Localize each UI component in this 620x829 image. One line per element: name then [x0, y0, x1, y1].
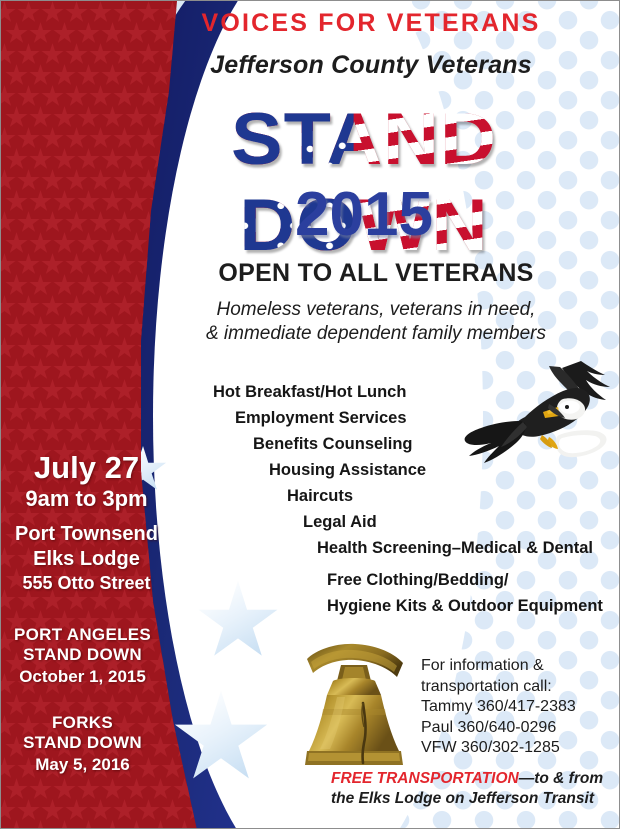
main-event-time: 9am to 3pm: [9, 486, 164, 512]
red-panel-star: [53, 316, 76, 339]
service-item: Hygiene Kits & Outdoor Equipment: [191, 593, 606, 619]
red-panel-star: [53, 190, 76, 213]
red-panel-star: [149, 778, 172, 801]
red-panel-star: [101, 64, 124, 87]
red-panel-star: [29, 148, 52, 171]
red-panel-star: [29, 400, 52, 423]
red-panel-star: [29, 106, 52, 129]
red-panel-star: [101, 820, 124, 829]
main-event-date: July 27: [9, 450, 164, 486]
red-panel-star: [41, 421, 64, 444]
red-panel-star: [0, 421, 16, 444]
other-event-1-date: October 1, 2015: [5, 667, 160, 687]
red-panel-star: [53, 232, 76, 255]
red-panel-star: [29, 274, 52, 297]
red-panel-star: [5, 400, 28, 423]
red-panel-star: [161, 799, 184, 822]
other-event-2-name: FORKS STAND DOWN: [5, 713, 160, 753]
red-panel-star: [5, 64, 28, 87]
red-panel-star: [53, 148, 76, 171]
red-panel-star: [29, 64, 52, 87]
red-panel-star: [5, 778, 28, 801]
main-event-venue: Port Townsend Elks Lodge: [9, 522, 164, 572]
service-item: Health Screening–Medical & Dental: [191, 535, 606, 561]
red-panel-star: [101, 22, 124, 45]
red-panel-star: [65, 211, 88, 234]
liberty-bell-icon: [293, 639, 415, 771]
red-panel-star: [77, 22, 100, 45]
stand-down-title: STAND DOWN: [119, 97, 609, 183]
red-panel-star: [77, 316, 100, 339]
red-panel-star: [29, 778, 52, 801]
red-panel-star: [41, 211, 64, 234]
red-panel-star: [77, 64, 100, 87]
red-panel-star: [89, 1, 112, 24]
red-panel-star: [113, 337, 136, 360]
red-panel-star: [65, 253, 88, 276]
red-panel-star: [101, 316, 124, 339]
red-panel-star: [89, 43, 112, 66]
red-panel-star: [125, 64, 148, 87]
red-panel-star: [53, 64, 76, 87]
red-panel-star: [89, 799, 112, 822]
red-panel-star: [41, 253, 64, 276]
poster: VOICES FOR VETERANS Jefferson County Vet…: [0, 0, 620, 829]
red-panel-star: [17, 169, 40, 192]
transportation-highlight: FREE TRANSPORTATION: [331, 770, 519, 787]
transportation-rest: —to & from: [519, 770, 603, 787]
red-panel-star: [125, 274, 148, 297]
red-panel-star: [65, 799, 88, 822]
red-panel-star: [65, 379, 88, 402]
red-panel-star: [29, 22, 52, 45]
red-panel-star: [113, 1, 136, 24]
red-panel-star: [101, 274, 124, 297]
red-panel-star: [161, 757, 184, 780]
red-panel-star: [65, 295, 88, 318]
contact-phone-tammy: Tammy 360/417-2383: [421, 697, 620, 718]
red-panel-star: [41, 43, 64, 66]
red-panel-star: [77, 358, 100, 381]
red-panel-star: [17, 295, 40, 318]
red-panel-star: [101, 778, 124, 801]
red-panel-star: [53, 778, 76, 801]
red-panel-star: [0, 85, 16, 108]
other-event-2-line-1: FORKS: [5, 713, 160, 733]
other-event-1-line-1: PORT ANGELES: [5, 625, 160, 645]
red-panel-star: [149, 820, 172, 829]
other-event-1-name: PORT ANGELES STAND DOWN: [5, 625, 160, 665]
venue-line-1: Port Townsend: [9, 522, 164, 547]
red-panel-star: [0, 295, 16, 318]
red-panel-star: [5, 316, 28, 339]
red-panel-star: [77, 820, 100, 829]
contact-line-2: transportation call:: [421, 677, 620, 698]
transportation-notice: FREE TRANSPORTATION—to & from the Elks L…: [331, 769, 609, 809]
red-panel-star: [137, 799, 160, 822]
red-panel-star: [5, 820, 28, 829]
red-panel-star: [17, 421, 40, 444]
red-panel-star: [17, 127, 40, 150]
red-panel-star: [65, 43, 88, 66]
red-panel-star: [113, 421, 136, 444]
red-panel-star: [77, 400, 100, 423]
red-panel-star: [0, 1, 16, 24]
red-panel-star: [113, 799, 136, 822]
red-panel-star: [41, 379, 64, 402]
red-panel-star: [0, 127, 16, 150]
red-panel-star: [77, 274, 100, 297]
red-panel-star: [29, 316, 52, 339]
event-year: 2015: [119, 179, 609, 250]
red-panel-star: [89, 421, 112, 444]
red-panel-star: [65, 85, 88, 108]
red-panel-star: [53, 400, 76, 423]
red-panel-star: [0, 43, 16, 66]
red-panel-star: [65, 169, 88, 192]
red-panel-star: [53, 22, 76, 45]
red-panel-star: [65, 1, 88, 24]
service-item: Legal Aid: [191, 509, 606, 535]
red-panel-star: [173, 820, 196, 829]
organization-name: Jefferson County Veterans: [151, 51, 591, 80]
red-panel-star: [77, 148, 100, 171]
red-panel-star: [77, 106, 100, 129]
red-panel-star: [41, 295, 64, 318]
red-panel-star: [0, 337, 16, 360]
red-panel-star: [77, 778, 100, 801]
red-panel-star: [29, 358, 52, 381]
red-panel-star: [41, 169, 64, 192]
red-panel-star: [53, 820, 76, 829]
red-panel-star: [41, 337, 64, 360]
main-event-address: 555 Otto Street: [9, 573, 164, 594]
red-panel-star: [65, 127, 88, 150]
eligibility-detail: Homeless veterans, veterans in need, & i…: [151, 298, 601, 346]
red-panel-star: [17, 85, 40, 108]
red-panel-star: [113, 295, 136, 318]
red-panel-star: [29, 232, 52, 255]
red-panel-star: [41, 85, 64, 108]
eligibility-line-2: & immediate dependent family members: [151, 322, 601, 346]
transportation-line-2: the Elks Lodge on Jefferson Transit: [331, 789, 609, 809]
red-panel-star: [77, 190, 100, 213]
red-panel-star: [0, 379, 16, 402]
red-panel-star: [125, 820, 148, 829]
red-panel-star: [5, 22, 28, 45]
red-panel-star: [53, 358, 76, 381]
red-panel-star: [125, 778, 148, 801]
red-panel-star: [53, 274, 76, 297]
contact-info: For information & transportation call: T…: [421, 656, 620, 759]
eligibility-line-1: Homeless veterans, veterans in need,: [151, 298, 601, 322]
red-panel-star: [89, 295, 112, 318]
red-panel-star: [29, 820, 52, 829]
red-panel-star: [89, 337, 112, 360]
red-panel-star: [17, 1, 40, 24]
red-panel-star: [17, 337, 40, 360]
red-panel-star: [5, 148, 28, 171]
red-panel-star: [113, 43, 136, 66]
red-panel-star: [89, 379, 112, 402]
service-item: Free Clothing/Bedding/: [191, 561, 606, 593]
red-panel-star: [65, 337, 88, 360]
red-panel-star: [65, 421, 88, 444]
red-panel-star: [5, 190, 28, 213]
red-panel-star: [5, 106, 28, 129]
bald-eagle-icon: [463, 359, 613, 487]
red-panel-star: [125, 22, 148, 45]
red-panel-star: [0, 253, 16, 276]
red-panel-star: [5, 232, 28, 255]
red-panel-star: [17, 799, 40, 822]
red-panel-star: [77, 232, 100, 255]
other-event-1-line-2: STAND DOWN: [5, 645, 160, 665]
red-panel-star: [101, 358, 124, 381]
red-panel-star: [29, 190, 52, 213]
red-panel-star: [0, 169, 16, 192]
red-panel-star: [41, 1, 64, 24]
red-panel-star: [101, 400, 124, 423]
red-panel-star: [113, 379, 136, 402]
red-panel-star: [41, 127, 64, 150]
red-panel-star: [0, 799, 16, 822]
red-panel-star: [17, 211, 40, 234]
red-panel-star: [5, 274, 28, 297]
red-panel-star: [41, 799, 64, 822]
red-panel-star: [53, 106, 76, 129]
venue-line-2: Elks Lodge: [9, 547, 164, 572]
red-panel-star: [17, 43, 40, 66]
red-panel-star: [5, 358, 28, 381]
poster-kicker: VOICES FOR VETERANS: [151, 9, 591, 38]
eligibility-headline: OPEN TO ALL VETERANS: [151, 259, 601, 288]
contact-line-1: For information &: [421, 656, 620, 677]
contact-phone-vfw: VFW 360/302-1285: [421, 738, 620, 759]
other-event-2-line-2: STAND DOWN: [5, 733, 160, 753]
contact-phone-paul: Paul 360/640-0296: [421, 718, 620, 739]
red-panel-star: [17, 253, 40, 276]
red-panel-star: [0, 211, 16, 234]
red-panel-star: [17, 379, 40, 402]
other-event-2-date: May 5, 2016: [5, 755, 160, 775]
transportation-line-1: FREE TRANSPORTATION—to & from: [331, 769, 609, 789]
